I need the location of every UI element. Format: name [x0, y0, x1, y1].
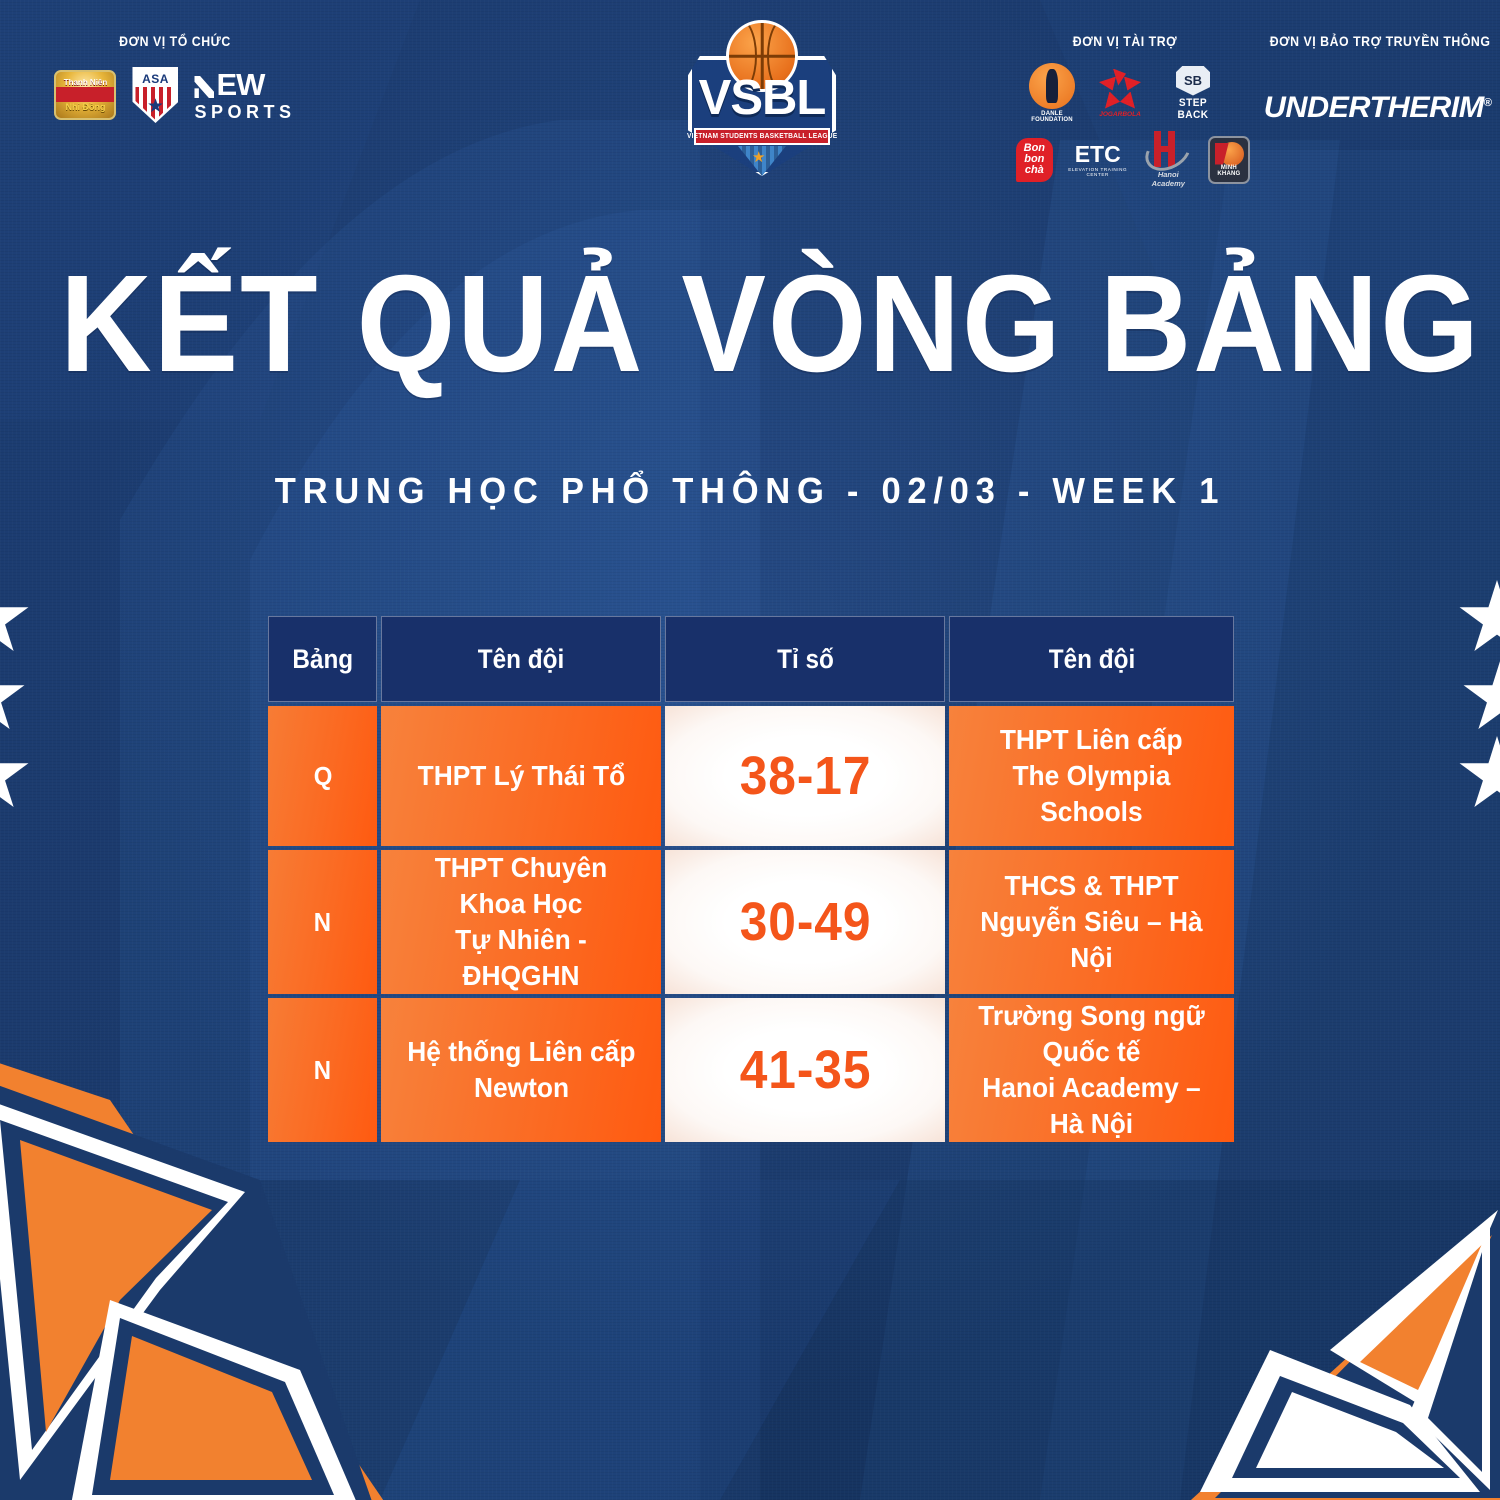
new-sports-wordmark: EW: [194, 69, 295, 100]
table-row: Q THPT Lý Thái Tổ 38-17 THPT Liên cấp Th…: [268, 706, 1234, 846]
step-back-caption: STEP BACK: [1164, 97, 1221, 121]
thanh-nien-line1: Thanh Niên: [64, 78, 108, 87]
sponsor-bar: ĐƠN VỊ TỔ CHỨC Thanh Niên Nhi Đồng ASA ★…: [0, 0, 1500, 200]
thanh-nien-line2: Nhi Đồng: [65, 102, 105, 112]
col-header-team-right-label: Tên đội: [1048, 644, 1134, 675]
crest-letters: VSBL: [682, 74, 842, 123]
bon-bon-cha-caption: Bon bon chà: [1016, 143, 1053, 176]
hanoi-academy-h-icon: [1144, 131, 1192, 169]
etc-wordmark: ETC: [1067, 143, 1129, 166]
cell-team-left-line2: Newton: [474, 1070, 569, 1106]
col-header-group: Bảng: [268, 616, 377, 702]
cell-team-left-line2: Tự Nhiên - ĐHQGHN: [403, 922, 640, 994]
cell-team-right-line1: Trường Song ngữ Quốc tế: [971, 998, 1212, 1070]
col-header-team-left-label: Tên đội: [478, 644, 564, 675]
cell-team-right-line2: Hanoi Academy – Hà Nội: [971, 1070, 1212, 1142]
undertherim-wordmark: UNDERTHERIM: [1264, 91, 1484, 124]
cell-score: 30-49: [665, 850, 945, 994]
danle-ball-icon: [1029, 63, 1075, 109]
step-back-logo: STEP BACK: [1162, 66, 1224, 121]
undertherim-logo: UNDERTHERIM®: [1264, 91, 1492, 125]
hanoi-academy-logo: Hanoi Academy: [1143, 131, 1194, 188]
etc-subtitle: ELEVATION TRAINING CENTER: [1067, 167, 1129, 177]
page-title: KẾT QUẢ VÒNG BẢNG: [60, 255, 1440, 393]
media-sponsor-block: ĐƠN VỊ BẢO TRỢ TRUYỀN THÔNG UNDERTHERIM®: [1255, 33, 1500, 125]
sponsor-logo-row-2: Bon bon chà ETC ELEVATION TRAINING CENTE…: [1000, 131, 1250, 188]
results-table-wrap: Bảng Tên đội Tỉ số Tên đội Q THPT Lý Thá…: [264, 612, 1238, 1134]
sponsor-block: ĐƠN VỊ TÀI TRỢ DANLE FOUNDATION JOGARBOL…: [1000, 33, 1250, 188]
new-sports-n-mark: [194, 76, 214, 98]
col-header-group-label: Bảng: [292, 644, 353, 675]
organizer-block: ĐƠN VỊ TỔ CHỨC Thanh Niên Nhi Đồng ASA ★…: [20, 33, 330, 123]
media-label: ĐƠN VỊ BẢO TRỢ TRUYỀN THÔNG: [1270, 33, 1486, 49]
cell-group: Q: [268, 706, 377, 846]
new-sports-line2: SPORTS: [194, 103, 295, 121]
danle-foundation-logo: DANLE FOUNDATION: [1026, 63, 1078, 123]
cell-score-label: 41-35: [739, 1039, 871, 1101]
undertherim-registered-icon: ®: [1484, 97, 1492, 109]
jogarbola-logo: JOGARBOLA: [1094, 69, 1146, 118]
table-header-row: Bảng Tên đội Tỉ số Tên đội: [268, 616, 1234, 702]
vsbl-crest: VSBL ★ VIETNAM STUDENTS BASKETBALL LEAGU…: [682, 18, 842, 183]
cell-group-label: N: [314, 907, 331, 938]
bon-bon-cha-logo: Bon bon chà: [1016, 138, 1053, 182]
new-sports-logo: EW SPORTS: [194, 69, 295, 121]
table-row: N THPT Chuyên Khoa Học Tự Nhiên - ĐHQGHN…: [268, 850, 1234, 994]
stars-left: [0, 580, 90, 800]
organizer-label: ĐƠN VỊ TỔ CHỨC: [39, 33, 312, 49]
asa-wordmark: ASA: [135, 70, 175, 87]
cell-score: 38-17: [665, 706, 945, 846]
col-header-team-left: Tên đội: [381, 616, 661, 702]
crest-star-icon: ★: [752, 148, 765, 166]
cell-team-left: Hệ thống Liên cấp Newton: [381, 998, 661, 1142]
cell-group-label: Q: [313, 761, 332, 792]
cell-team-left-line1: THPT Chuyên Khoa Học: [403, 850, 640, 922]
minh-khang-logo: MINH KHANG: [1208, 136, 1250, 184]
cell-team-right-line2: The Olympia Schools: [971, 758, 1212, 830]
col-header-score-label: Tỉ số: [777, 644, 834, 675]
asa-star-icon: ★: [147, 97, 164, 116]
new-sports-line1: EW: [216, 67, 264, 102]
crest-ribbon: VIETNAM STUDENTS BASKETBALL LEAGUE: [694, 128, 830, 145]
thanh-nien-band: [56, 87, 114, 102]
table-head: Bảng Tên đội Tỉ số Tên đội: [268, 616, 1234, 702]
organizer-logo-row: Thanh Niên Nhi Đồng ASA ★ EW SPORTS: [20, 67, 330, 123]
corner-graphic-bottom-right: [1160, 1180, 1500, 1500]
table-body: Q THPT Lý Thái Tổ 38-17 THPT Liên cấp Th…: [268, 706, 1234, 1142]
cell-team-left: THPT Lý Thái Tổ: [381, 706, 661, 846]
minh-khang-caption: MINH KHANG: [1210, 165, 1248, 177]
corner-graphic-bottom-left: [0, 1040, 390, 1500]
stars-right: [1440, 580, 1500, 800]
crest-tagline: VIETNAM STUDENTS BASKETBALL LEAGUE: [687, 133, 837, 140]
cell-team-right: THPT Liên cấp The Olympia Schools: [949, 706, 1234, 846]
jogarbola-caption: JOGARBOLA: [1094, 111, 1146, 118]
star-icon: [1462, 658, 1500, 736]
cell-score-label: 30-49: [739, 891, 871, 953]
col-header-team-right: Tên đội: [949, 616, 1234, 702]
star-icon: [0, 658, 26, 736]
cell-team-right: Trường Song ngữ Quốc tế Hanoi Academy – …: [949, 998, 1234, 1142]
cell-team-left: THPT Chuyên Khoa Học Tự Nhiên - ĐHQGHN: [381, 850, 661, 994]
jogarbola-burst-icon: [1099, 69, 1141, 109]
cell-score-label: 38-17: [739, 745, 871, 807]
star-icon: [0, 580, 30, 658]
danle-caption: DANLE FOUNDATION: [1026, 111, 1078, 123]
cell-score: 41-35: [665, 998, 945, 1142]
media-logo-row: UNDERTHERIM®: [1255, 91, 1500, 125]
sponsor-logo-row-1: DANLE FOUNDATION JOGARBOLA STEP BACK: [1000, 63, 1250, 123]
asa-logo: ASA ★: [132, 67, 178, 123]
cell-team-right: THCS & THPT Nguyễn Siêu – Hà Nội: [949, 850, 1234, 994]
etc-logo: ETC ELEVATION TRAINING CENTER: [1067, 143, 1129, 177]
page-subtitle: TRUNG HỌC PHỔ THÔNG - 02/03 - WEEK 1: [30, 470, 1470, 512]
cell-team-left-line1: Hệ thống Liên cấp: [407, 1034, 635, 1070]
step-back-mark-icon: [1176, 66, 1210, 96]
results-table: Bảng Tên đội Tỉ số Tên đội Q THPT Lý Thá…: [264, 612, 1238, 1146]
cell-team-right-line1: THCS & THPT: [1005, 868, 1179, 904]
cell-team-right-line1: THPT Liên cấp: [1000, 722, 1183, 758]
hanoi-academy-caption: Hanoi Academy: [1143, 170, 1194, 188]
cell-team-right-line2: Nguyễn Siêu – Hà Nội: [971, 904, 1212, 976]
thanh-nien-logo: Thanh Niên Nhi Đồng: [54, 70, 116, 120]
cell-team-left-label: THPT Lý Thái Tổ: [418, 758, 626, 794]
table-row: N Hệ thống Liên cấp Newton 41-35 Trường …: [268, 998, 1234, 1142]
sponsor-label: ĐƠN VỊ TÀI TRỢ: [1015, 33, 1235, 49]
col-header-score: Tỉ số: [665, 616, 945, 702]
cell-group: N: [268, 850, 377, 994]
star-icon: [1458, 580, 1500, 658]
